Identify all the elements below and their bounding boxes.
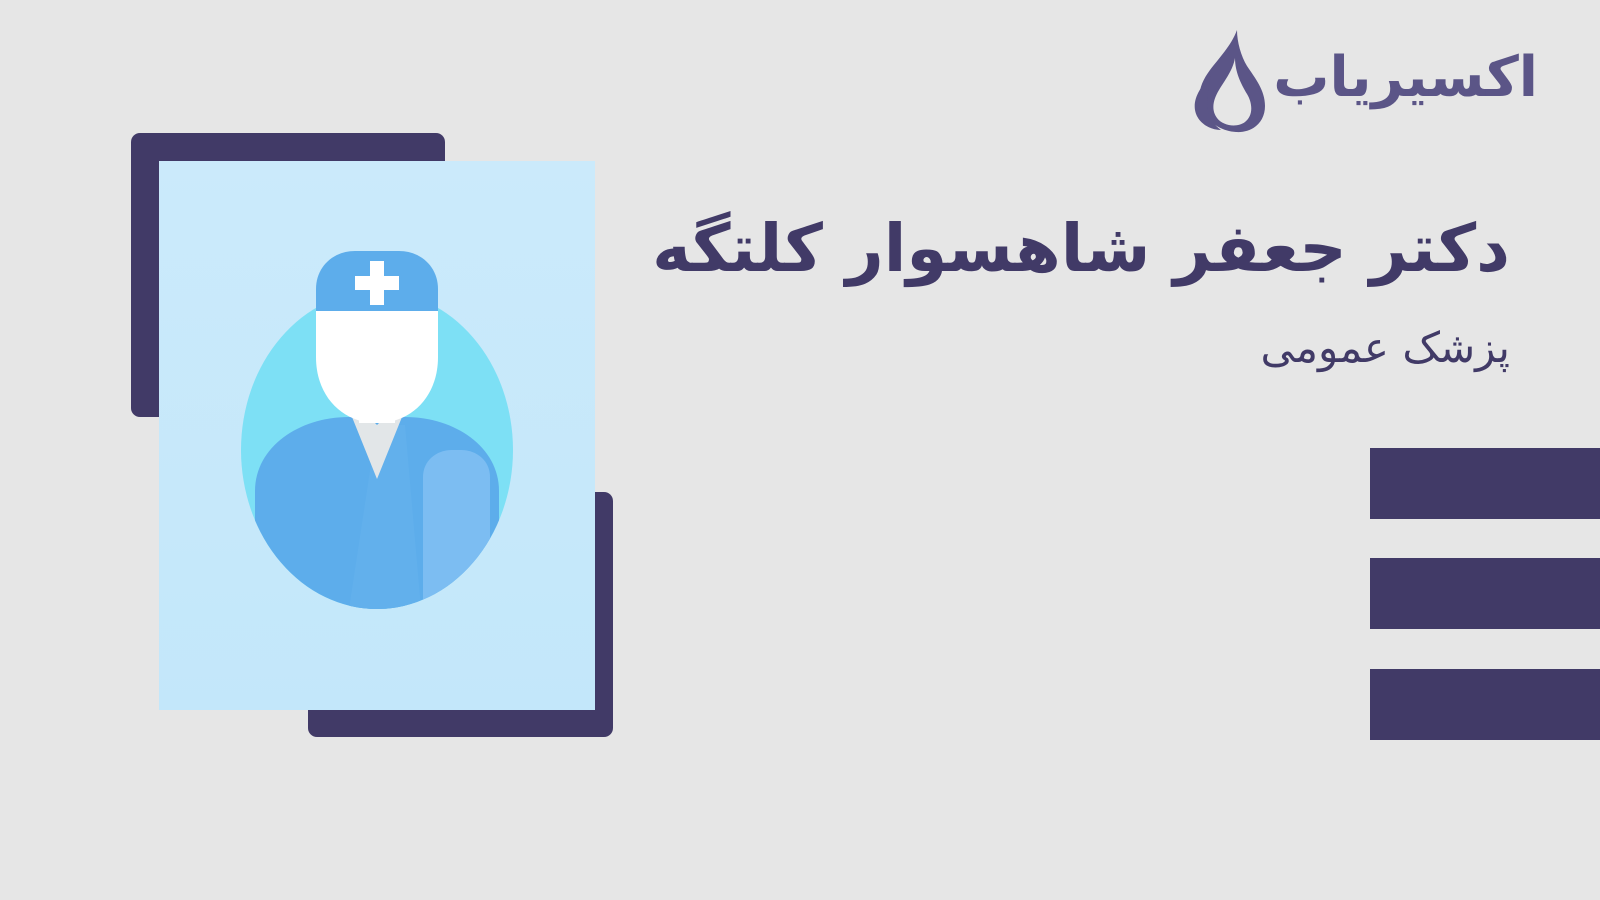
doctor-specialty-label: پزشک عمومی (680, 321, 1510, 376)
decor-bar-3 (1370, 669, 1600, 740)
doctor-profile-banner: اکسیریاب دکتر جعفر شاهسوار کلتگه پزشک عم… (0, 0, 1600, 900)
decor-bar-2 (1370, 558, 1600, 629)
doctor-avatar (159, 161, 595, 710)
doctor-photo-card (159, 161, 595, 710)
doctor-illustration (0, 0, 700, 900)
page-title: دکتر جعفر شاهسوار کلتگه (680, 208, 1510, 291)
decor-bar-1 (1370, 448, 1600, 519)
flame-icon (1191, 28, 1267, 134)
brand-logo[interactable]: اکسیریاب (1191, 26, 1538, 136)
brand-name-label: اکسیریاب (1273, 50, 1538, 112)
hero-text-block: دکتر جعفر شاهسوار کلتگه پزشک عمومی (680, 208, 1510, 375)
